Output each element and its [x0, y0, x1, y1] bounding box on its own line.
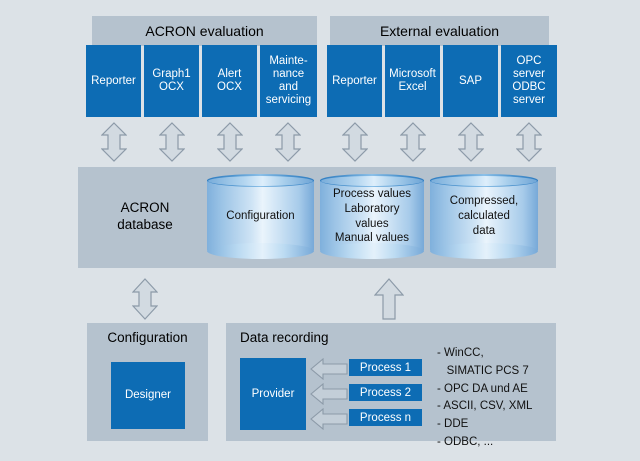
cylinder-label: Process values Laboratory values Manual …: [320, 174, 424, 259]
data-recording-interfaces-list: - WinCC, SIMATIC PCS 7 - OPC DA und AE -…: [437, 345, 552, 452]
cylinder-label: Configuration: [207, 174, 314, 259]
configuration-panel-title: Configuration: [87, 330, 208, 350]
cylinder-compressed-calculated-data[interactable]: Compressed, calculated data: [430, 174, 538, 259]
connector-bidirectional-arrow-8: [516, 122, 542, 162]
connector-process-n-to-provider-arrow: [310, 408, 348, 430]
connector-bidirectional-arrow-3: [217, 122, 243, 162]
box-process-n[interactable]: Process n: [349, 409, 422, 426]
box-alert-ocx[interactable]: Alert OCX: [202, 45, 257, 117]
connector-data-recording-to-database-arrow: [374, 278, 404, 320]
acron-evaluation-title: ACRON evaluation: [92, 16, 317, 46]
connector-bidirectional-arrow-4: [275, 122, 301, 162]
external-evaluation-title: External evaluation: [330, 16, 549, 46]
box-sap[interactable]: SAP: [443, 45, 498, 117]
box-designer[interactable]: Designer: [111, 362, 185, 429]
connector-bidirectional-arrow-5: [342, 122, 368, 162]
diagram-canvas: ACRON evaluation Reporter Graph1 OCX Ale…: [0, 0, 640, 461]
connector-bidirectional-arrow-7: [458, 122, 484, 162]
connector-database-to-configuration-arrow: [132, 278, 158, 320]
box-microsoft-excel[interactable]: Microsoft Excel: [385, 45, 440, 117]
box-reporter-external[interactable]: Reporter: [327, 45, 382, 117]
box-reporter-acron[interactable]: Reporter: [86, 45, 141, 117]
box-process-1[interactable]: Process 1: [349, 359, 422, 376]
cylinder-label: Compressed, calculated data: [430, 174, 538, 259]
box-provider[interactable]: Provider: [240, 358, 306, 430]
acron-database-label: ACRON database: [90, 190, 200, 244]
connector-bidirectional-arrow-2: [159, 122, 185, 162]
box-maintenance-and-servicing[interactable]: Mainte- nance and servicing: [260, 45, 317, 117]
cylinder-configuration[interactable]: Configuration: [207, 174, 314, 259]
data-recording-panel-title: Data recording: [240, 330, 380, 350]
box-graph1-ocx[interactable]: Graph1 OCX: [144, 45, 199, 117]
connector-bidirectional-arrow-1: [101, 122, 127, 162]
box-process-2[interactable]: Process 2: [349, 384, 422, 401]
connector-process-2-to-provider-arrow: [310, 383, 348, 405]
connector-bidirectional-arrow-6: [400, 122, 426, 162]
box-opc-odbc-server[interactable]: OPC server ODBC server: [501, 45, 557, 117]
cylinder-process-laboratory-manual-values[interactable]: Process values Laboratory values Manual …: [320, 174, 424, 259]
connector-process-1-to-provider-arrow: [310, 358, 348, 380]
